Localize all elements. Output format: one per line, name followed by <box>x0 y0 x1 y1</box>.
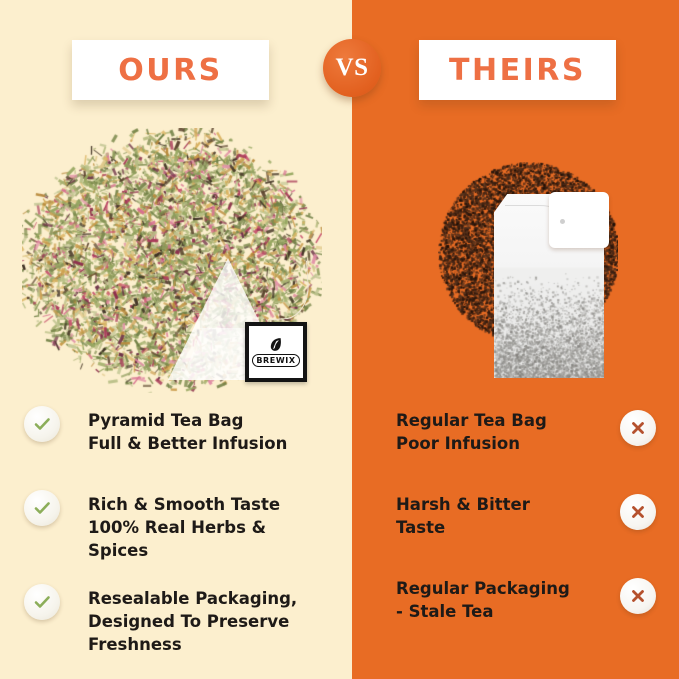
list-item-label: Harsh & Bitter Taste <box>396 490 530 539</box>
cross-glyph <box>628 502 648 522</box>
list-item-label: Resealable Packaging, Designed To Preser… <box>88 584 297 656</box>
vs-label: VS <box>336 54 369 82</box>
check-glyph <box>32 592 52 612</box>
panel-divider <box>350 0 353 679</box>
ours-label: OURS <box>118 53 223 88</box>
list-item: Pyramid Tea Bag Full & Better Infusion <box>24 406 334 468</box>
list-item: Regular Tea Bag Poor Infusion <box>396 406 656 468</box>
list-item-label: Regular Packaging - Stale Tea <box>396 574 570 623</box>
check-icon <box>24 406 60 442</box>
leaf-icon <box>269 337 283 352</box>
check-icon <box>24 490 60 526</box>
theirs-feature-list: Regular Tea Bag Poor Infusion Harsh & Bi… <box>396 406 656 658</box>
tea-bag-staple <box>560 219 565 224</box>
brewix-tag-inner: BREWIX <box>249 326 303 378</box>
cross-icon <box>620 494 656 530</box>
brewix-brand-tag: BREWIX <box>245 322 307 382</box>
cross-icon <box>620 578 656 614</box>
list-item-label: Regular Tea Bag Poor Infusion <box>396 406 547 455</box>
comparison-infographic: BREWIX OURS VS THEIRS Pyramid Tea Bag Fu… <box>0 0 679 679</box>
check-glyph <box>32 498 52 518</box>
vs-badge: VS <box>323 39 381 97</box>
tea-bag-paper-tag <box>549 192 609 248</box>
theirs-label: THEIRS <box>449 53 586 88</box>
check-glyph <box>32 414 52 434</box>
check-icon <box>24 584 60 620</box>
list-item: Harsh & Bitter Taste <box>396 490 656 552</box>
list-item: Rich & Smooth Taste 100% Real Herbs & Sp… <box>24 490 334 562</box>
cross-glyph <box>628 586 648 606</box>
list-item-label: Rich & Smooth Taste 100% Real Herbs & Sp… <box>88 490 280 562</box>
list-item: Regular Packaging - Stale Tea <box>396 574 656 636</box>
cross-icon <box>620 410 656 446</box>
ours-feature-list: Pyramid Tea Bag Full & Better Infusion R… <box>24 406 334 678</box>
cross-glyph <box>628 418 648 438</box>
brewix-wordmark: BREWIX <box>252 354 299 367</box>
ours-label-box: OURS <box>72 40 269 100</box>
list-item-label: Pyramid Tea Bag Full & Better Infusion <box>88 406 287 455</box>
theirs-label-box: THEIRS <box>419 40 616 100</box>
list-item: Resealable Packaging, Designed To Preser… <box>24 584 334 656</box>
